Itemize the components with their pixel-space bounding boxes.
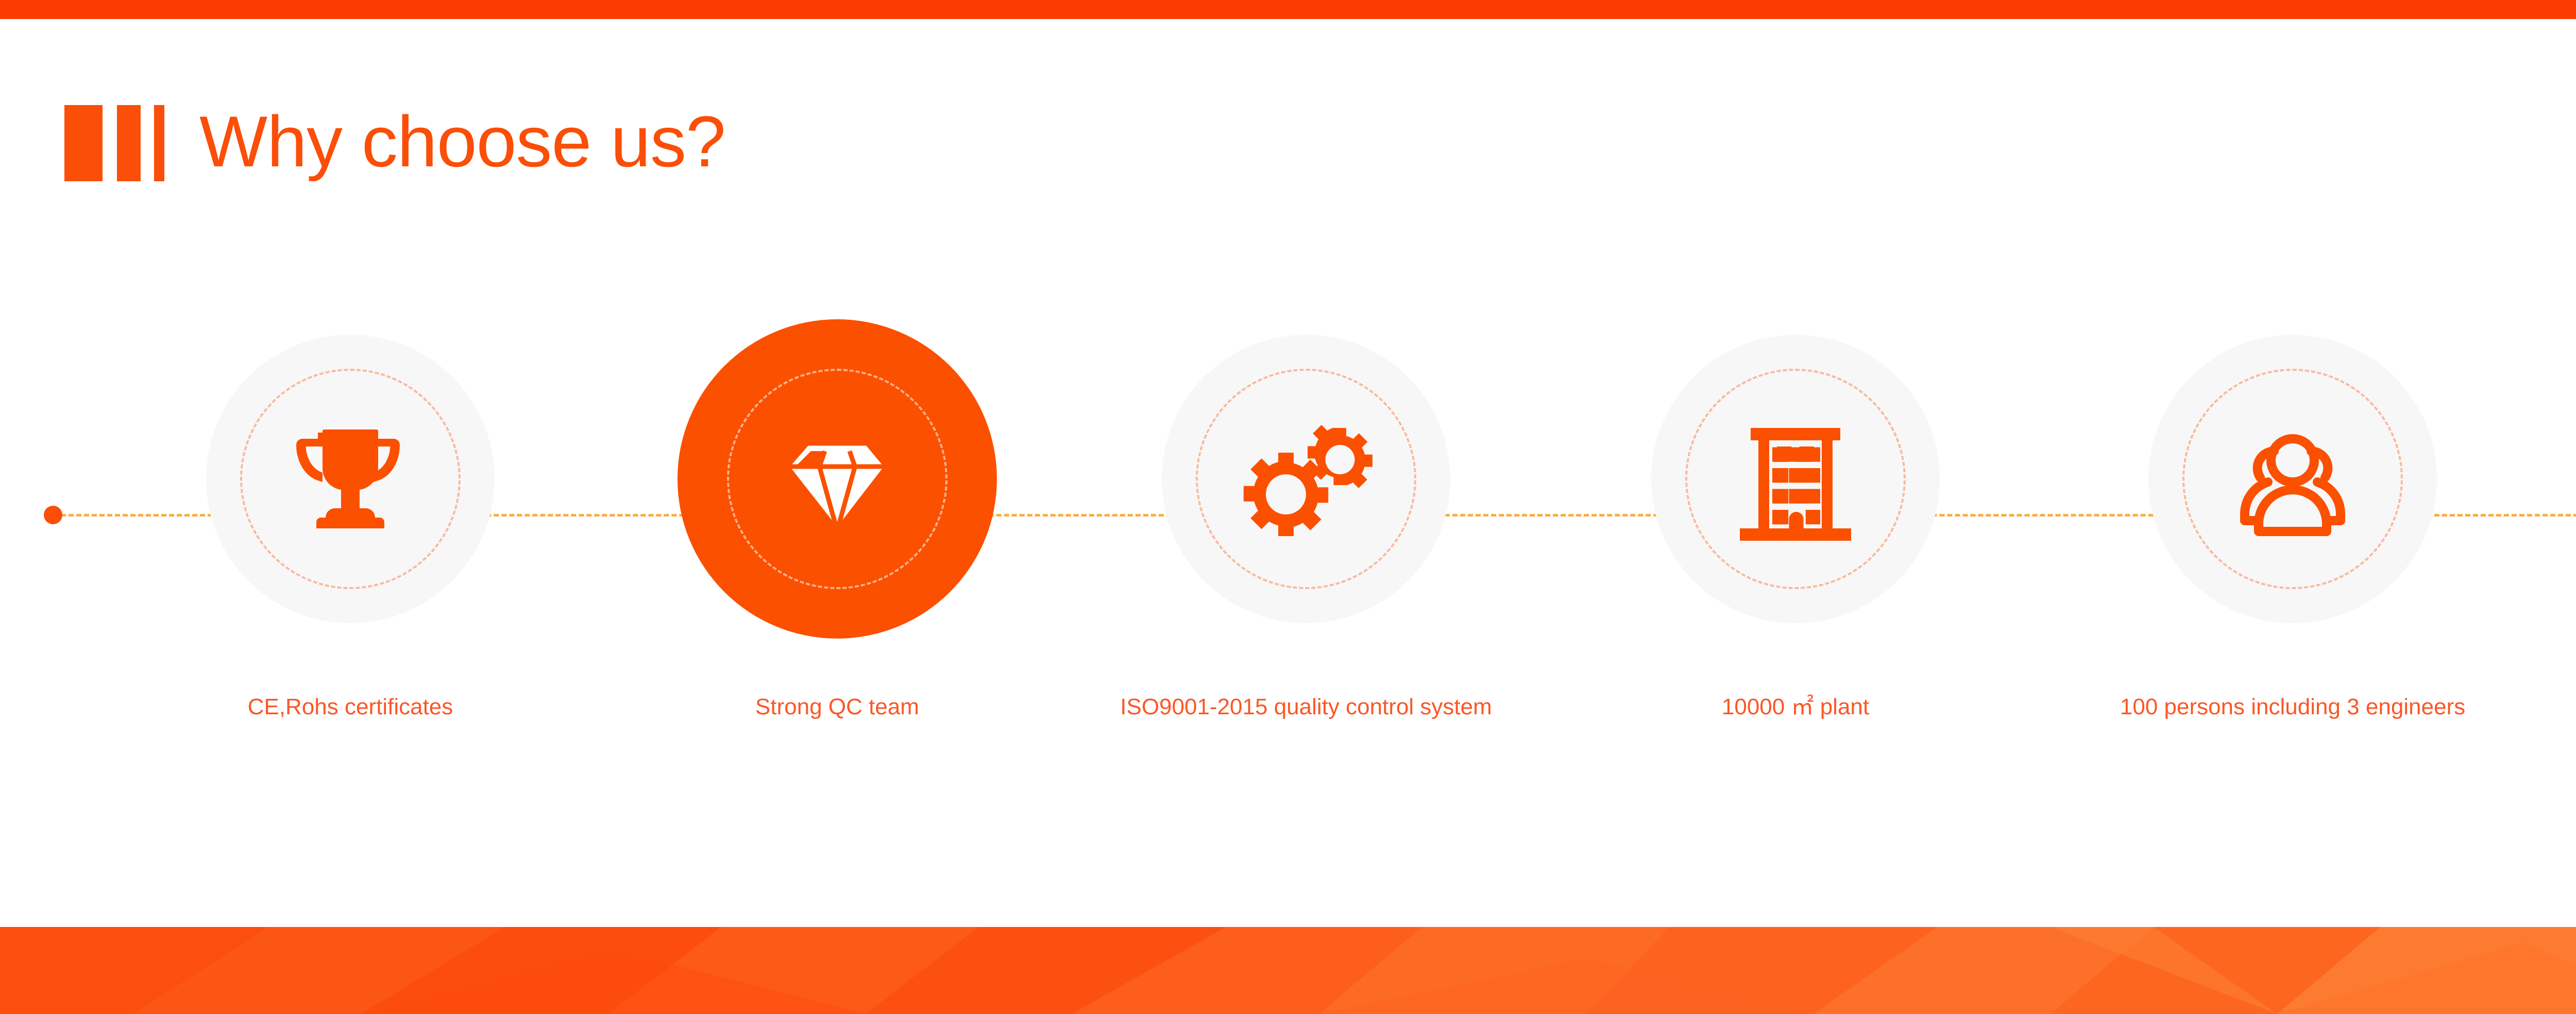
feature-item-plant[interactable]: 10000 ㎡ plant (1625, 319, 1965, 721)
feature-caption: CE,Rohs certificates (248, 693, 453, 721)
feature-caption: Strong QC team (755, 693, 919, 721)
feature-item-ce-rohs[interactable]: CE,Rohs certificates (180, 319, 520, 721)
feature-item-qc-team[interactable]: Strong QC team (667, 319, 1007, 721)
icon-circle (191, 319, 510, 639)
slide-canvas: Why choose us? CE,Ro (0, 0, 2576, 1014)
feature-item-iso9001[interactable]: ISO9001-2015 quality control system (1136, 319, 1476, 721)
icon-circle (677, 319, 997, 639)
people-icon (2215, 402, 2370, 556)
feature-caption: 100 persons including 3 engineers (2120, 693, 2465, 721)
icon-circle (1146, 319, 1466, 639)
feature-caption: ISO9001-2015 quality control system (1120, 693, 1492, 721)
low-poly-pattern (0, 927, 2576, 1014)
bottom-accent-band (0, 927, 2576, 1014)
icon-circle (2133, 319, 2452, 639)
diamond-icon (760, 402, 914, 556)
feature-items: CE,Rohs certificates (0, 0, 2576, 1014)
feature-item-staff[interactable]: 100 persons including 3 engineers (2123, 319, 2463, 721)
building-icon (1718, 402, 1873, 556)
icon-circle (1636, 319, 1955, 639)
gears-icon (1229, 402, 1383, 556)
feature-caption: 10000 ㎡ plant (1722, 693, 1869, 721)
trophy-icon (273, 402, 428, 556)
